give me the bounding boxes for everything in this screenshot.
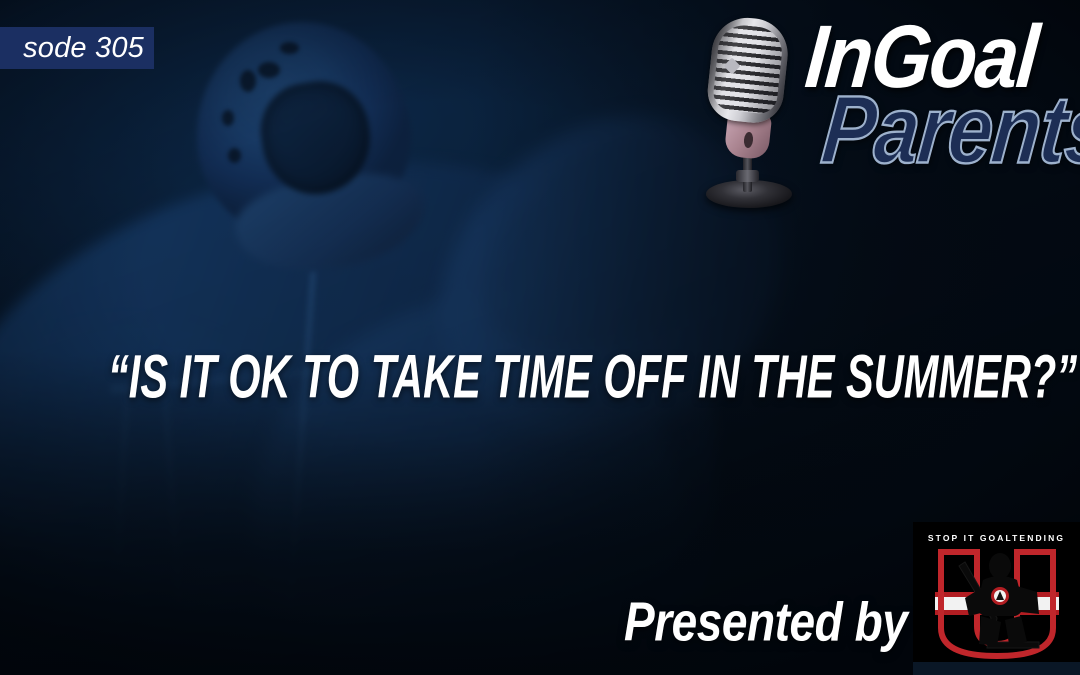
episode-title: “IS IT OK TO TAKE TIME OFF IN THE SUMMER… [108, 342, 972, 413]
sponsor-name-label: STOP IT GOALTENDING [913, 533, 1080, 543]
sponsor-u-mark [935, 548, 1059, 660]
podcast-thumbnail: sode 305 InGoal Parents “IS IT OK TO TAK… [0, 0, 1080, 675]
sponsor-goalie-silhouette-icon [953, 552, 1045, 660]
sponsor-logo: STOP IT GOALTENDING [913, 522, 1080, 662]
microphone-head [705, 14, 791, 125]
retro-microphone-icon [692, 12, 804, 204]
microphone-collar [736, 170, 759, 182]
logo-word-parents: Parents [818, 82, 1080, 178]
presented-by-label: Presented by [624, 590, 900, 654]
sponsor-bottom-strip [913, 662, 1080, 675]
podcast-logo: InGoal Parents [670, 0, 1080, 205]
podcast-logo-text: InGoal Parents [810, 8, 1080, 198]
microphone-grille-shading [705, 14, 791, 125]
episode-badge-label: sode 305 [23, 32, 144, 65]
episode-badge: sode 305 [0, 27, 154, 69]
